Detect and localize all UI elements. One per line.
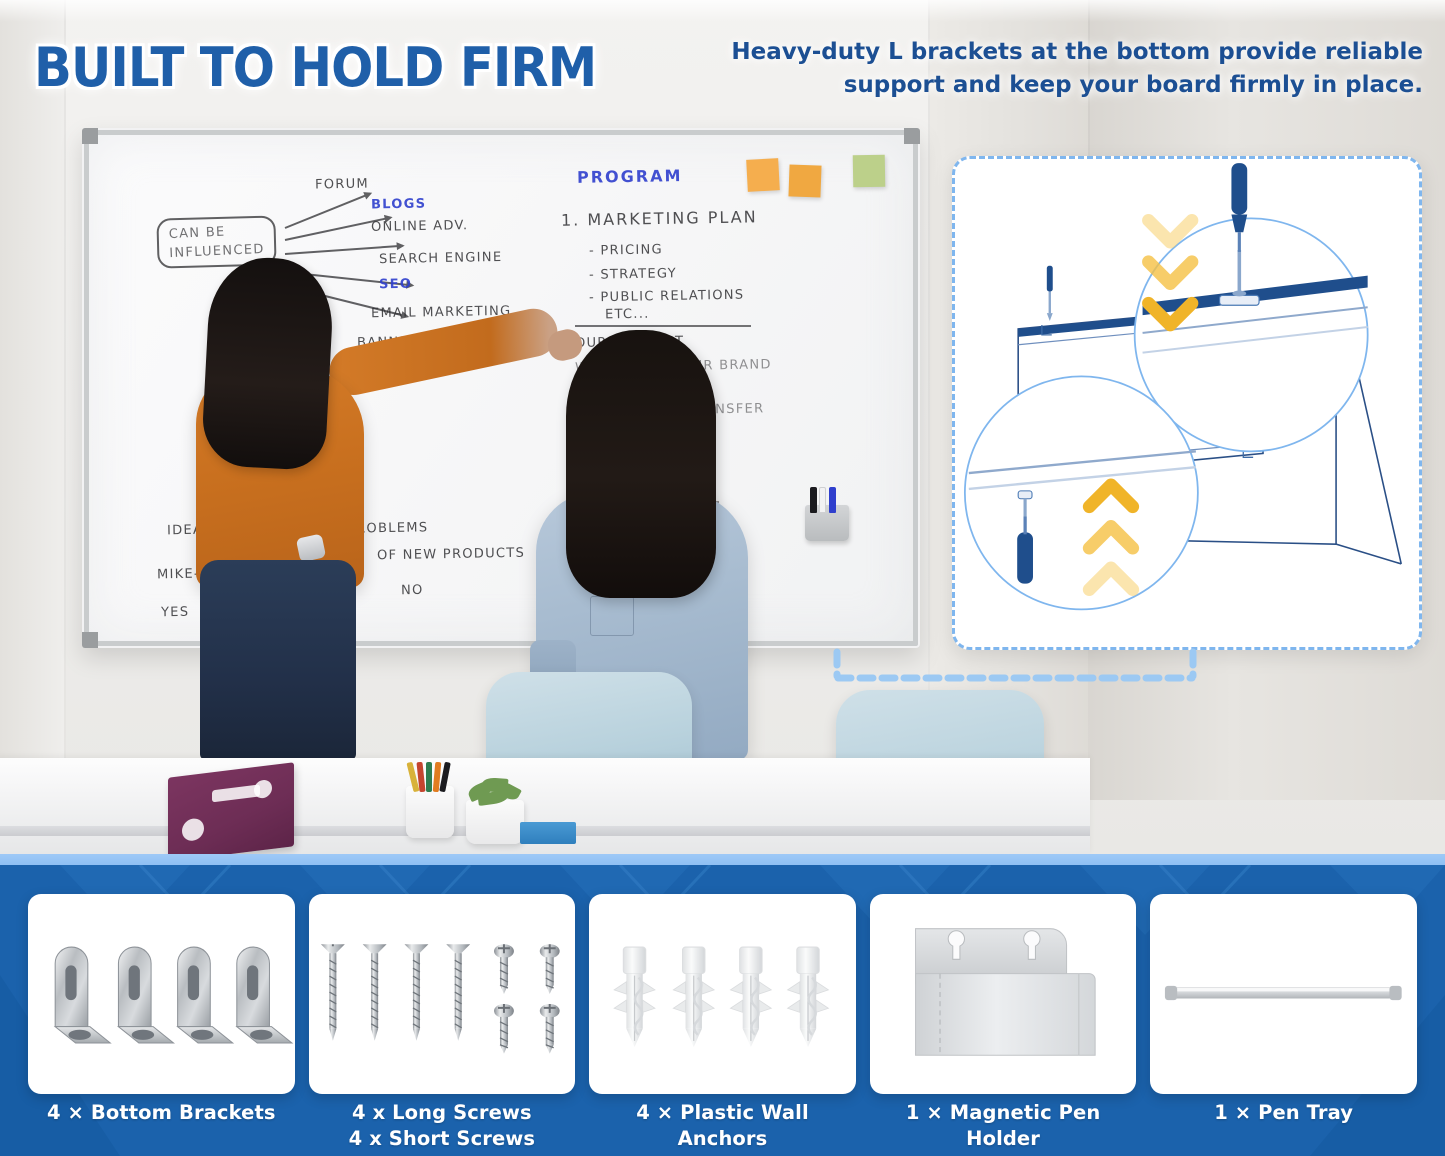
screw-icon <box>309 894 576 1094</box>
handwriting-program-title: PROGRAM <box>577 166 683 187</box>
installation-diagram-inset <box>952 156 1422 650</box>
handwriting-box-line-2: INFLUENCED <box>169 242 265 261</box>
person-left-jeans <box>200 560 356 760</box>
diagram-screwdriver-small-top <box>1047 266 1053 321</box>
callout-bottom-bracket <box>965 376 1198 609</box>
l-bracket-icon <box>28 894 295 1094</box>
desk-pen-3 <box>426 762 432 792</box>
handwriting-divider-1 <box>575 325 751 327</box>
card-bottom-brackets[interactable] <box>28 894 295 1094</box>
caption-line: 4 × Plastic Wall Anchors <box>589 1100 856 1151</box>
laptop-sticker-1 <box>182 817 204 842</box>
wall-seam-mid <box>928 0 930 760</box>
sticky-note-green <box>853 155 886 188</box>
page-headline: BUILT TO HOLD FIRM <box>34 36 596 99</box>
handwriting-mike: MIKE- <box>157 567 200 583</box>
wall-panel-left <box>0 0 64 780</box>
sticky-note-orange-2 <box>788 164 821 197</box>
desk-blue-book <box>520 822 576 844</box>
caption-line: 1 × Magnetic Pen Holder <box>870 1100 1137 1151</box>
pen-holder-icon <box>870 894 1137 1094</box>
handwriting-branch-seo: SEO <box>379 277 412 293</box>
marker-blue <box>829 487 836 513</box>
caption-line: 1 × Pen Tray <box>1150 1100 1417 1126</box>
handwriting-box-line-1: CAN BE <box>168 223 264 242</box>
handwriting-branch-online-adv: ONLINE ADV. <box>371 218 469 235</box>
person-right-hair <box>566 330 716 598</box>
card-screws[interactable] <box>309 894 576 1094</box>
person-left-hair <box>201 255 336 471</box>
ceiling-highlight <box>0 0 1445 22</box>
marker-white <box>819 487 826 513</box>
caption-line-2: 4 x Short Screws <box>309 1126 576 1152</box>
handwriting-bullet-public-relations: - PUBLIC RELATIONS <box>589 288 745 306</box>
wall-seam-left <box>64 0 66 760</box>
handwriting-bullet-pricing: - PRICING <box>589 242 663 258</box>
caption-line-1: 4 x Long Screws <box>309 1100 576 1126</box>
diagram-connector-bracket <box>832 648 1198 684</box>
wall-anchor-icon <box>589 894 856 1094</box>
handwriting-marketing-plan-heading: 1. MARKETING PLAN <box>561 207 758 229</box>
handwriting-no: NO <box>401 583 424 598</box>
pen-tray-icon <box>1150 894 1417 1094</box>
desk-plant-pot <box>466 800 524 844</box>
short-screws <box>494 944 560 1053</box>
handwriting-branch-blogs: BLOGS <box>371 197 427 213</box>
caption-pen-tray: 1 × Pen Tray <box>1150 1100 1417 1151</box>
installation-diagram-svg <box>955 159 1419 647</box>
handwriting-branch-forum: FORUM <box>315 177 369 193</box>
handwriting-yes: YES <box>161 605 190 620</box>
card-wall-anchors[interactable] <box>589 894 856 1094</box>
handwriting-bullet-strategy: - STRATEGY <box>589 266 677 283</box>
board-magnetic-pen-holder <box>805 505 849 541</box>
caption-screws: 4 x Long Screws 4 x Short Screws <box>309 1100 576 1151</box>
board-corner-top-left <box>82 128 98 144</box>
caption-line: 4 × Bottom Brackets <box>28 1100 295 1126</box>
accessories-band: 4 × Bottom Brackets 4 x Long Screws 4 x … <box>0 854 1445 1156</box>
handwriting-bullet-etc: ETC... <box>605 307 650 323</box>
desk-pen-cup <box>406 786 454 838</box>
page-subtitle: Heavy-duty L brackets at the bottom prov… <box>703 36 1423 101</box>
accessory-captions: 4 × Bottom Brackets 4 x Long Screws 4 x … <box>0 1100 1445 1151</box>
handwriting-branch-search-engine: SEARCH ENGINE <box>379 250 503 267</box>
accessory-cards <box>0 894 1445 1094</box>
laptop-sticker-label <box>212 784 260 802</box>
sticky-note-orange-1 <box>746 158 780 192</box>
board-corner-top-right <box>904 128 920 144</box>
laptop <box>168 762 294 854</box>
card-pen-tray[interactable] <box>1150 894 1417 1094</box>
caption-wall-anchors: 4 × Plastic Wall Anchors <box>589 1100 856 1151</box>
long-screws <box>321 944 470 1040</box>
callout-top-bracket <box>1135 163 1368 451</box>
caption-bottom-brackets: 4 × Bottom Brackets <box>28 1100 295 1151</box>
board-corner-bottom-left <box>82 632 98 648</box>
handwriting-of-new-products: OF NEW PRODUCTS <box>377 546 525 564</box>
marker-black <box>810 487 817 513</box>
card-pen-holder[interactable] <box>870 894 1137 1094</box>
caption-pen-holder: 1 × Magnetic Pen Holder <box>870 1100 1137 1151</box>
band-top-stripe <box>0 854 1445 865</box>
person-right-shirt-pocket <box>590 596 634 636</box>
